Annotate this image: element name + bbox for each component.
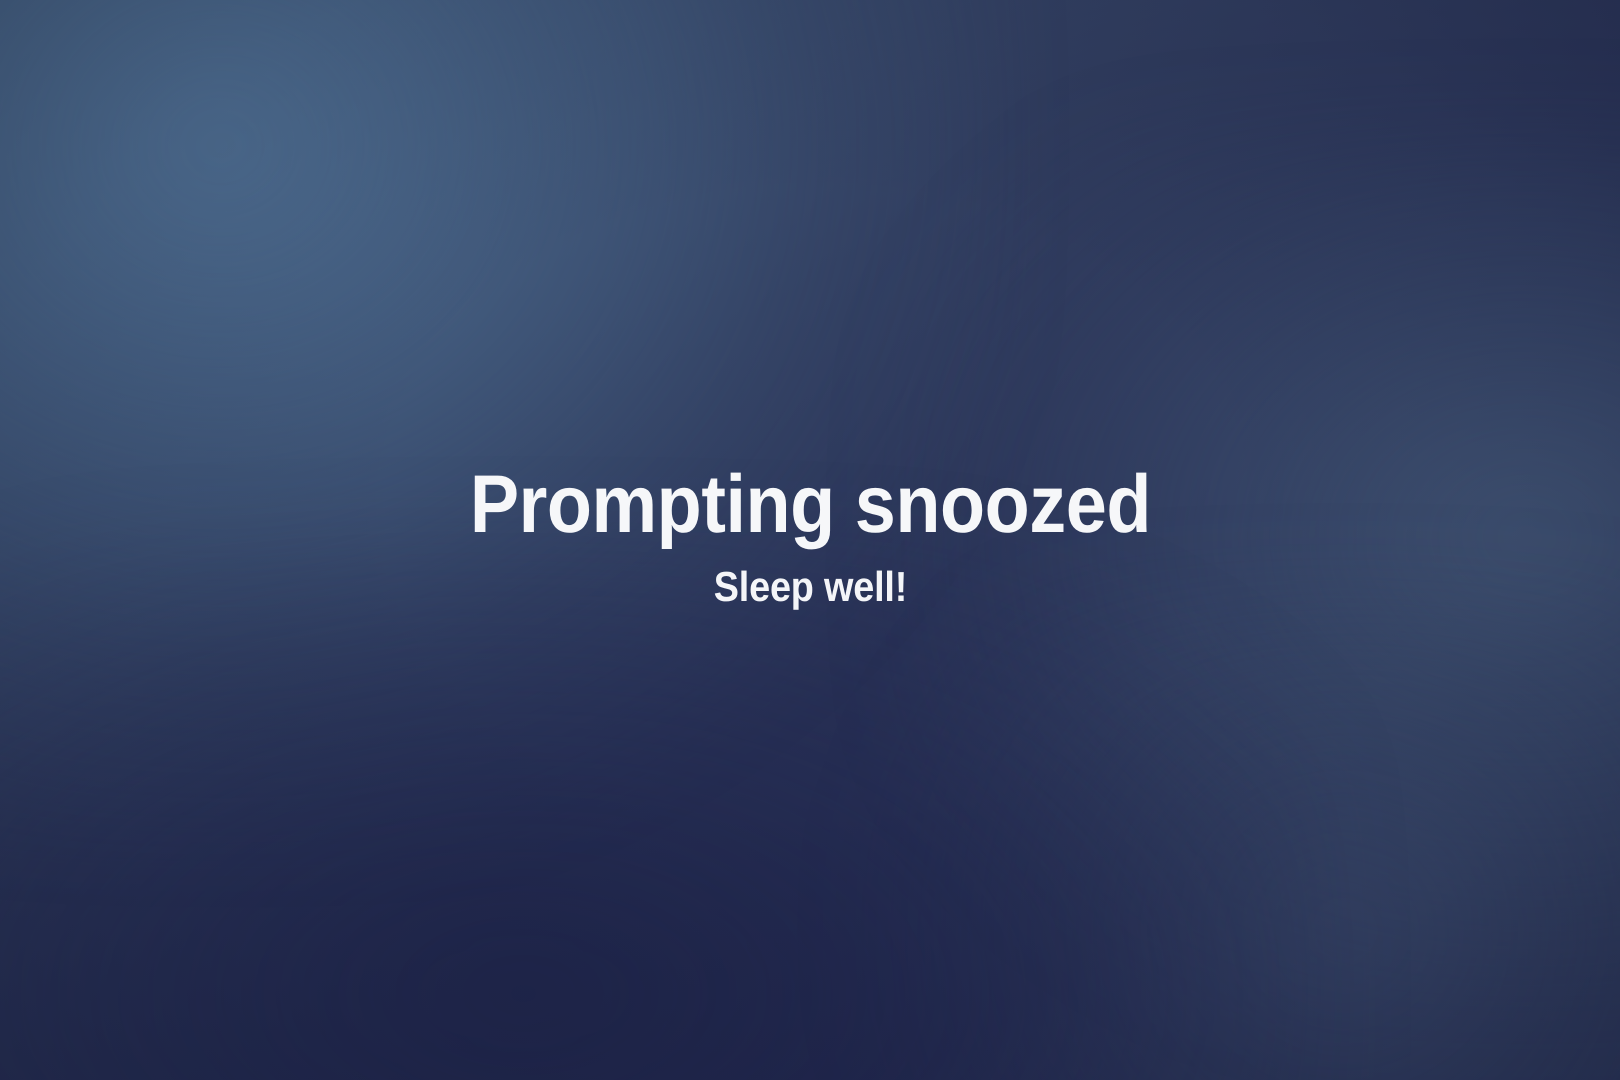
snooze-message-block: Prompting snoozed Sleep well! bbox=[0, 0, 1620, 1080]
page-title: Prompting snoozed bbox=[469, 464, 1150, 546]
prompting-snoozed-screen: Prompting snoozed Sleep well! bbox=[0, 0, 1620, 1080]
page-subtitle: Sleep well! bbox=[713, 566, 906, 608]
